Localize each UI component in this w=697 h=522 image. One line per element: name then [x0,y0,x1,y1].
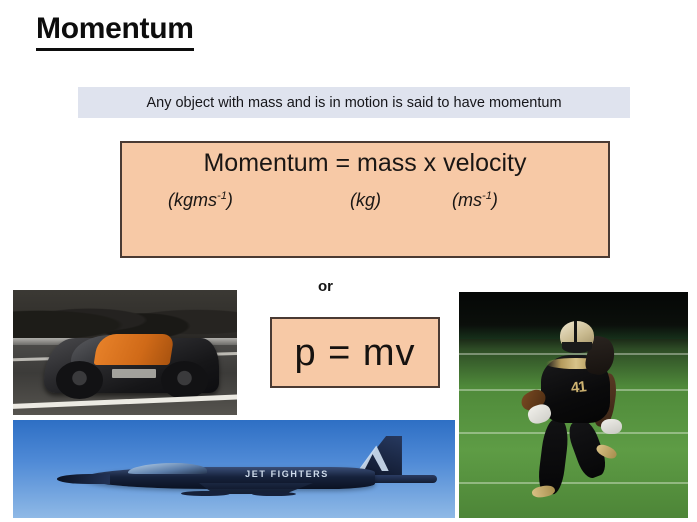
player-glove-right [601,419,622,435]
momentum-slide: Momentum Any object with mass and is in … [0,0,697,522]
jet-tip-tank-right [252,492,296,497]
car-license-plate [112,369,157,378]
unit-momentum: (kgms-1) [168,190,233,211]
car-front-wheel [56,361,103,399]
car-rear-wheel [161,361,208,399]
car-orange-stripe [93,334,174,365]
player-facemask [562,342,592,353]
jet-fighter-photo: JET FIGHTERS [13,420,455,518]
jet-nose-cone [57,474,110,484]
equation-main-text: Momentum = mass x velocity [122,149,608,178]
jet-tip-tank-left [181,491,230,497]
unit-mass: (kg) [350,190,381,211]
shorthand-equation-box: p = mv [270,317,440,388]
sports-car-photo [13,290,237,415]
field-yard-line [459,482,688,484]
jet-livery-text: JET FIGHTERS [230,469,345,479]
page-title: Momentum [36,12,194,51]
equation-box: Momentum = mass x velocity (kgms-1) (kg)… [120,141,610,258]
subtitle-band: Any object with mass and is in motion is… [78,87,630,118]
player-helmet-stripe [574,321,577,341]
jet-cockpit-canopy [128,463,208,474]
shorthand-equation-text: p = mv [294,334,415,372]
car-background-trees [13,290,237,340]
or-text: or [318,278,333,295]
football-player-photo: 41 [459,292,688,518]
unit-velocity: (ms-1) [452,190,498,211]
subtitle-text: Any object with mass and is in motion is… [146,95,561,111]
player-cleat-left [531,484,556,500]
equation-units-row: (kgms-1) (kg) (ms-1) [122,190,608,216]
